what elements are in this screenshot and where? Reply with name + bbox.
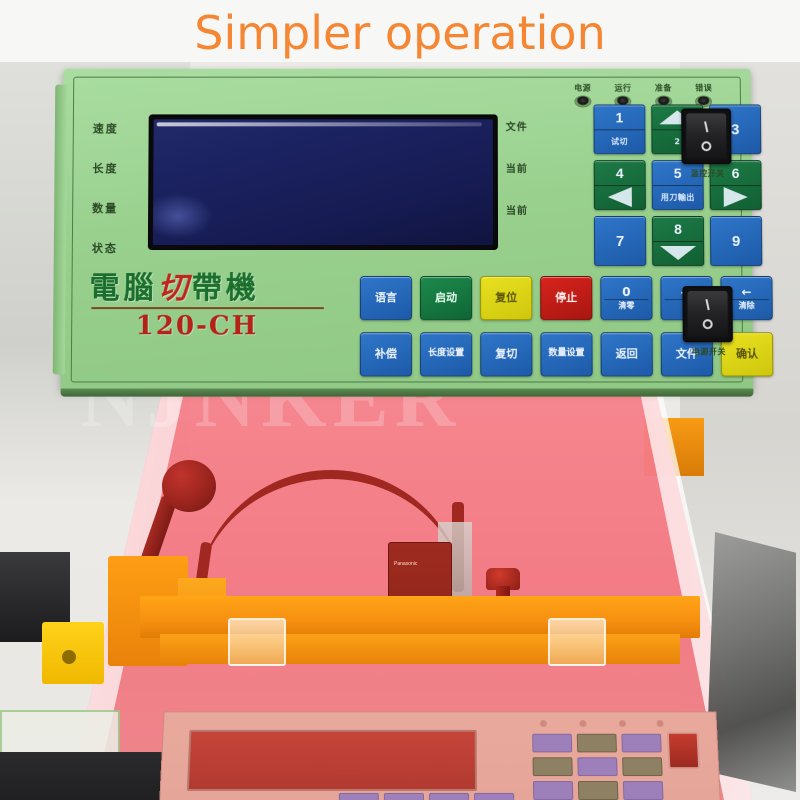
reflection-keypad-key <box>577 734 617 753</box>
feed-rail-upper <box>140 596 700 638</box>
temperature-switch-label: 温控开关 <box>682 168 734 179</box>
reflection-keypad-key <box>621 734 661 753</box>
yellow-block-hole <box>62 650 76 664</box>
label-file: 文件 <box>506 118 546 148</box>
logo-divider <box>91 307 323 309</box>
quantity-setting-button[interactable]: 数量设置 <box>540 332 592 376</box>
key-1-label: 试切 <box>595 130 645 153</box>
label-current-1: 当前 <box>506 160 546 190</box>
brand-prefix: 電腦 <box>89 271 157 306</box>
title-bar: Simpler operation <box>0 0 800 66</box>
display-field-labels: 速度 长度 数量 状态 <box>92 120 145 280</box>
reflection-keypad-key <box>578 781 619 800</box>
control-panel: 速度 长度 数量 状态 文件 当前 当前 电源 运行 <box>61 69 754 391</box>
reflection-led <box>579 720 586 727</box>
key-1[interactable]: 1 试切 <box>593 104 645 154</box>
control-panel-reflection: 電腦切帶機 120-CH <box>156 711 724 800</box>
label-speed: 速度 <box>93 120 145 152</box>
indicator-error-label: 错误 <box>688 83 718 94</box>
temperature-control-switch[interactable]: 温控开关 <box>681 108 733 179</box>
reflection-key <box>384 793 424 800</box>
arrow-right-icon <box>711 186 761 209</box>
screenshot-root: Simpler operation Panasonic <box>0 0 800 800</box>
numeric-keypad: 1 试切 2 3 4 5 用刀輸出 <box>593 104 762 266</box>
model-number: 120-CH <box>89 311 305 341</box>
lcd-bezel <box>148 114 498 250</box>
key-9[interactable]: 9 <box>710 216 762 266</box>
key-9-number: 9 <box>711 217 761 265</box>
key-1-number: 1 <box>594 105 644 128</box>
length-setting-button[interactable]: 长度设置 <box>420 332 472 376</box>
keypad-side-labels: 文件 当前 当前 <box>506 118 546 244</box>
start-button[interactable]: 启动 <box>420 276 472 320</box>
temperature-switch-body[interactable] <box>681 108 731 164</box>
reflection-led <box>656 720 663 727</box>
key-4-number: 4 <box>595 161 645 184</box>
reflection-keypad-key <box>577 757 617 776</box>
key-8-number: 8 <box>653 217 703 240</box>
label-quantity: 数量 <box>92 200 144 232</box>
backspace-label: 清除 <box>739 302 755 310</box>
switch-off-marker <box>703 319 713 329</box>
rocker-switch-icon[interactable] <box>686 113 726 159</box>
return-button[interactable]: 返回 <box>600 332 652 376</box>
arrow-down-icon <box>653 241 703 265</box>
tape-guide-left <box>228 618 286 666</box>
lcd-screen <box>153 119 493 245</box>
label-current-2: 当前 <box>506 202 546 232</box>
stop-button[interactable]: 停止 <box>540 276 592 320</box>
reflection-keypad-key <box>533 781 573 800</box>
zero-clear-button[interactable]: 0 清零 <box>600 276 652 320</box>
tape-guide-right <box>548 618 606 666</box>
reflection-keypad-key <box>623 781 664 800</box>
key-5-label: 用刀輸出 <box>653 186 703 209</box>
switch-on-marker <box>704 122 708 133</box>
power-switch[interactable]: 电源开关 <box>682 286 735 357</box>
reflection-key <box>474 793 514 800</box>
brand-logo: 電腦切帶機 120-CH <box>89 274 325 341</box>
panel-left-edge <box>53 85 68 375</box>
power-switch-label: 电源开关 <box>683 346 735 357</box>
language-button[interactable]: 语言 <box>360 276 412 320</box>
label-length: 长度 <box>92 160 144 192</box>
indicator-run-label: 运行 <box>608 83 638 94</box>
rocker-switch-icon[interactable] <box>687 291 727 337</box>
reflection-keypad-key <box>622 757 663 776</box>
reflection-switch-top <box>667 732 700 769</box>
power-switch-body[interactable] <box>682 286 733 342</box>
reflection-key <box>339 793 379 800</box>
reflection-led <box>540 720 547 727</box>
reflection-keypad-key <box>533 757 573 776</box>
reset-button[interactable]: 复位 <box>480 276 532 320</box>
switch-off-marker <box>701 141 711 151</box>
key-8-down[interactable]: 8 <box>652 216 704 266</box>
label-status: 状态 <box>92 240 144 272</box>
brand-logo-cn: 電腦切帶機 <box>89 274 325 304</box>
recut-button[interactable]: 复切 <box>480 332 532 376</box>
reflection-led <box>619 720 626 727</box>
reflection-keypad <box>532 734 664 800</box>
metal-tool-right <box>706 532 796 792</box>
reflection-key <box>429 793 469 800</box>
key-7[interactable]: 7 <box>594 216 646 266</box>
brand-red-char: 切 <box>158 271 192 306</box>
led-icon <box>574 96 591 108</box>
arrow-left-icon <box>595 186 645 209</box>
compensation-button[interactable]: 补偿 <box>360 332 412 376</box>
motor-label: Panasonic <box>392 560 448 596</box>
reflection-function-row-1 <box>339 793 515 800</box>
reflection-lcd <box>187 730 477 791</box>
switch-on-marker <box>705 299 709 310</box>
panel-bottom-edge <box>61 389 754 397</box>
key-4-left[interactable]: 4 <box>594 160 646 210</box>
lcd-glare-corner <box>153 193 213 239</box>
backspace-icon: ← <box>741 286 751 299</box>
page-title: Simpler operation <box>194 10 605 56</box>
zero-clear-number: 0 <box>622 286 630 299</box>
reflection-keypad-key <box>532 734 572 753</box>
lever-ball-handle <box>162 460 216 512</box>
zero-clear-label: 清零 <box>618 302 634 310</box>
key-7-number: 7 <box>595 217 645 265</box>
indicator-power-label: 电源 <box>567 83 597 94</box>
brand-suffix: 帶機 <box>192 271 260 306</box>
indicator-ready-label: 准备 <box>648 83 678 94</box>
lcd-glare-top <box>157 122 483 126</box>
